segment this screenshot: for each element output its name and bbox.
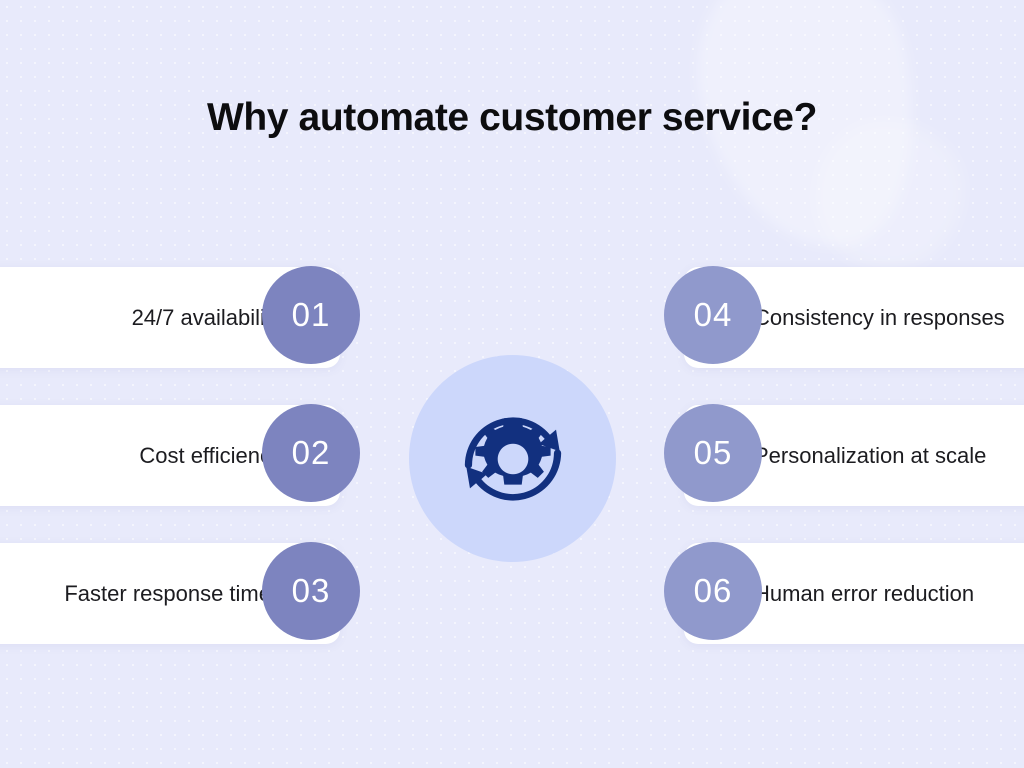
infographic-slide: Why automate customer service? 24/7 avai…	[0, 0, 1024, 768]
benefit-row-01[interactable]: 24/7 availability 01	[0, 267, 390, 368]
benefit-label: 24/7 availability	[132, 267, 282, 368]
benefit-row-05[interactable]: Personalization at scale 05	[634, 405, 1024, 506]
benefit-row-02[interactable]: Cost efficiency 02	[0, 405, 390, 506]
benefit-label: Consistency in responses	[754, 267, 1005, 368]
benefit-number-badge: 05	[664, 404, 762, 502]
page-title: Why automate customer service?	[0, 96, 1024, 140]
gear-refresh-icon	[447, 393, 579, 525]
benefit-row-04[interactable]: Consistency in responses 04	[634, 267, 1024, 368]
benefit-number-badge: 01	[262, 266, 360, 364]
background-watermark-shape-2	[814, 120, 964, 270]
benefit-row-06[interactable]: Human error reduction 06	[634, 543, 1024, 644]
benefit-label: Cost efficiency	[139, 405, 282, 506]
center-emblem	[409, 355, 616, 562]
benefit-number-badge: 03	[262, 542, 360, 640]
benefit-row-03[interactable]: Faster response times 03	[0, 543, 390, 644]
benefit-number-badge: 06	[664, 542, 762, 640]
benefit-number-badge: 04	[664, 266, 762, 364]
benefit-label: Human error reduction	[754, 543, 974, 644]
benefit-number-badge: 02	[262, 404, 360, 502]
benefit-label: Personalization at scale	[754, 405, 986, 506]
benefit-label: Faster response times	[64, 543, 282, 644]
